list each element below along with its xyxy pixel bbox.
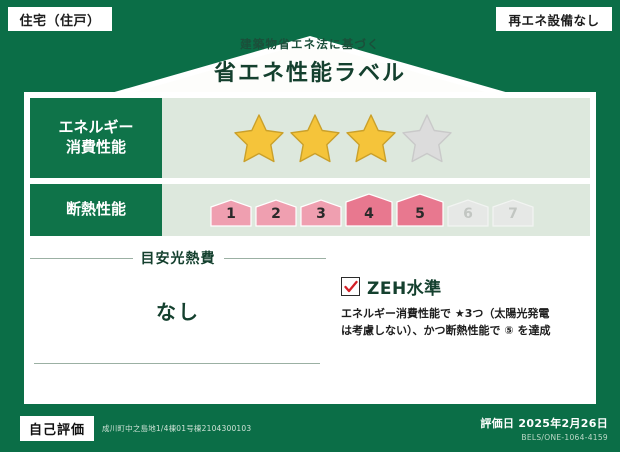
utility-cost-underline: [34, 363, 320, 364]
utility-cost-panel: 目安光熱費 なし: [30, 246, 326, 396]
evaluation-date-label: 評価日: [480, 417, 514, 430]
title-main: 省エネ性能ラベル: [0, 55, 620, 87]
star-filled-icon: [232, 111, 286, 165]
renewable-equipment-badge: 再エネ設備なし: [496, 7, 612, 31]
property-address: 成川町中之島地1/4棟01号棟2104300103: [102, 423, 251, 434]
star-filled-icon: [344, 111, 398, 165]
insulation-grade-3: 3: [300, 199, 342, 227]
rule-right: [224, 258, 327, 259]
zeh-panel: ZEH水準 エネルギー消費性能で ★3つ（太陽光発電 は考慮しない）、かつ断熱性…: [326, 246, 590, 396]
rule-left: [30, 258, 133, 259]
star-filled-icon: [288, 111, 342, 165]
label-title-block: 建築物省エネ法に基づく 省エネ性能ラベル: [0, 36, 620, 87]
grade-number: 4: [345, 206, 393, 222]
energy-label-root: 住宅（住戸） 再エネ設備なし 建築物省エネ法に基づく 省エネ性能ラベル エネルギ…: [0, 0, 620, 452]
zeh-checkbox[interactable]: [341, 277, 360, 296]
zeh-title: ZEH水準: [367, 274, 442, 299]
row-insulation-label: 断熱性能: [30, 184, 162, 236]
insulation-grade-2: 2: [255, 199, 297, 227]
title-subtitle: 建築物省エネ法に基づく: [0, 36, 620, 52]
zeh-description: エネルギー消費性能で ★3つ（太陽光発電 は考慮しない）、かつ断熱性能で ⑤ を…: [341, 305, 590, 339]
star-rating: [162, 111, 454, 165]
utility-cost-value: なし: [30, 296, 326, 325]
row-energy-value: [162, 98, 590, 178]
grade-number: 1: [210, 206, 252, 222]
evaluation-date-value: 2025年2月26日: [518, 417, 608, 430]
grade-number: 2: [255, 206, 297, 222]
label-body-card: エネルギー 消費性能 断熱性能 1234567 目安光熱費: [24, 92, 596, 404]
insulation-grade-4: 4: [345, 193, 393, 227]
row-energy-label-line1: エネルギー: [58, 118, 133, 136]
lower-section: 目安光熱費 なし ZEH水準 エネルギー消費性能で ★3つ（太陽光発電: [30, 246, 590, 396]
zeh-description-line1: エネルギー消費性能で ★3つ（太陽光発電: [341, 305, 590, 322]
grade-number: 3: [300, 206, 342, 222]
zeh-header: ZEH水準: [341, 274, 590, 299]
insulation-grade-5: 5: [396, 193, 444, 227]
insulation-grade-7: 7: [492, 199, 534, 227]
row-energy-performance: エネルギー 消費性能: [30, 98, 590, 178]
grade-number: 5: [396, 206, 444, 222]
row-energy-label-line2: 消費性能: [66, 138, 126, 156]
insulation-grade-scale: 1234567: [162, 193, 534, 227]
utility-cost-header: 目安光熱費: [30, 248, 326, 268]
insulation-grade-6: 6: [447, 199, 489, 227]
row-energy-label: エネルギー 消費性能: [30, 98, 162, 178]
building-type-badge: 住宅（住戸）: [8, 7, 112, 31]
grade-number: 6: [447, 206, 489, 222]
star-empty-icon: [400, 111, 454, 165]
label-footer: 自己評価 成川町中之島地1/4棟01号棟2104300103 評価日 2025年…: [0, 404, 620, 452]
checkmark-icon: [344, 280, 358, 294]
zeh-description-line2: は考慮しない）、かつ断熱性能で ⑤ を達成: [341, 322, 590, 339]
row-insulation-performance: 断熱性能 1234567: [30, 184, 590, 236]
self-evaluation-badge: 自己評価: [20, 416, 94, 441]
row-insulation-value: 1234567: [162, 184, 590, 236]
grade-number: 7: [492, 206, 534, 222]
evaluation-info: 評価日 2025年2月26日 BELS/ONE-1064-4159: [480, 415, 608, 442]
evaluation-code: BELS/ONE-1064-4159: [480, 433, 608, 442]
insulation-grade-1: 1: [210, 199, 252, 227]
evaluation-date: 評価日 2025年2月26日: [480, 415, 608, 431]
utility-cost-title: 目安光熱費: [141, 248, 216, 268]
